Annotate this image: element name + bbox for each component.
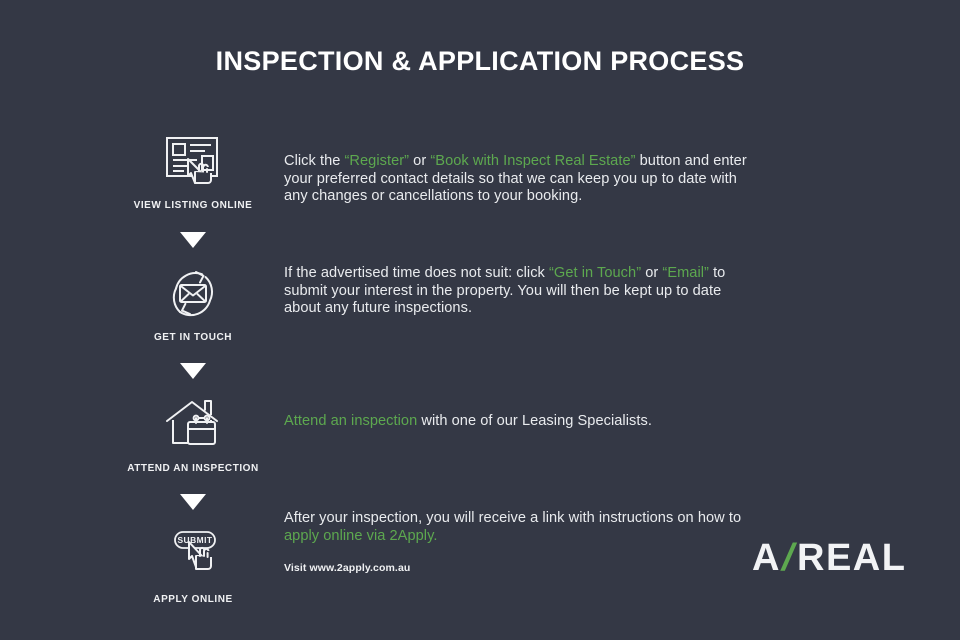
connector-arrow-2 (96, 363, 290, 379)
highlight-attend-an-inspection: Attend an inspection (284, 413, 417, 429)
process-infographic: INSPECTION & APPLICATION PROCESS (0, 0, 960, 640)
triangle-down-icon (180, 363, 206, 379)
highlight-apply-online-via-2apply: apply online via 2Apply. (284, 528, 437, 544)
visit-url-footnote: Visit www.2apply.com.au (284, 562, 759, 574)
listing-with-pointer-icon (96, 130, 290, 192)
highlight-book-with-inspect-real-estate: “Book with Inspect Real Estate” (430, 153, 635, 169)
step-node-get-in-touch: GET IN TOUCH (96, 262, 290, 343)
text-segment: or (641, 265, 662, 281)
areal-logo: A / REAL (752, 537, 906, 580)
step-description-get-in-touch: If the advertised time does not suit: cl… (284, 265, 759, 318)
highlight-get-in-touch: “Get in Touch” (549, 265, 641, 281)
text-segment: Click the (284, 153, 345, 169)
step-description-attend-an-inspection: Attend an inspection with one of our Lea… (284, 413, 759, 431)
connector-arrow-3 (96, 494, 290, 510)
step-label: VIEW LISTING ONLINE (96, 200, 290, 211)
step-label: APPLY ONLINE (96, 594, 290, 605)
triangle-down-icon (180, 494, 206, 510)
step-description-apply-online: After your inspection, you will receive … (284, 510, 759, 574)
step-label: GET IN TOUCH (96, 332, 290, 343)
envelope-refresh-icon (96, 262, 290, 324)
text-segment: or (409, 153, 430, 169)
highlight-email: “Email” (662, 265, 709, 281)
process-flow-column: VIEW LISTING ONLINE (96, 130, 290, 605)
house-calendar-icon (96, 393, 290, 455)
connector-arrow-1 (96, 232, 290, 248)
step-node-attend-an-inspection: ATTEND AN INSPECTION (96, 393, 290, 474)
submit-button-pointer-icon: SUBMIT (96, 524, 290, 586)
paragraph: Click the “Register” or “Book with Inspe… (284, 153, 759, 206)
paragraph: Attend an inspection with one of our Lea… (284, 413, 759, 431)
text-segment: with one of our Leasing Specialists. (417, 413, 652, 429)
step-label: ATTEND AN INSPECTION (96, 463, 290, 474)
logo-text-after: REAL (797, 537, 906, 580)
text-segment: After your inspection, you will receive … (284, 510, 741, 526)
page-title: INSPECTION & APPLICATION PROCESS (0, 46, 960, 77)
step-node-apply-online: SUBMIT APPLY ONLINE (96, 524, 290, 605)
highlight-register: “Register” (345, 153, 410, 169)
triangle-down-icon (180, 232, 206, 248)
step-node-view-listing-online: VIEW LISTING ONLINE (96, 130, 290, 211)
paragraph: After your inspection, you will receive … (284, 510, 759, 545)
text-segment: If the advertised time does not suit: cl… (284, 265, 549, 281)
submit-icon-label: SUBMIT (177, 535, 212, 545)
paragraph: If the advertised time does not suit: cl… (284, 265, 759, 318)
step-description-view-listing-online: Click the “Register” or “Book with Inspe… (284, 153, 759, 206)
